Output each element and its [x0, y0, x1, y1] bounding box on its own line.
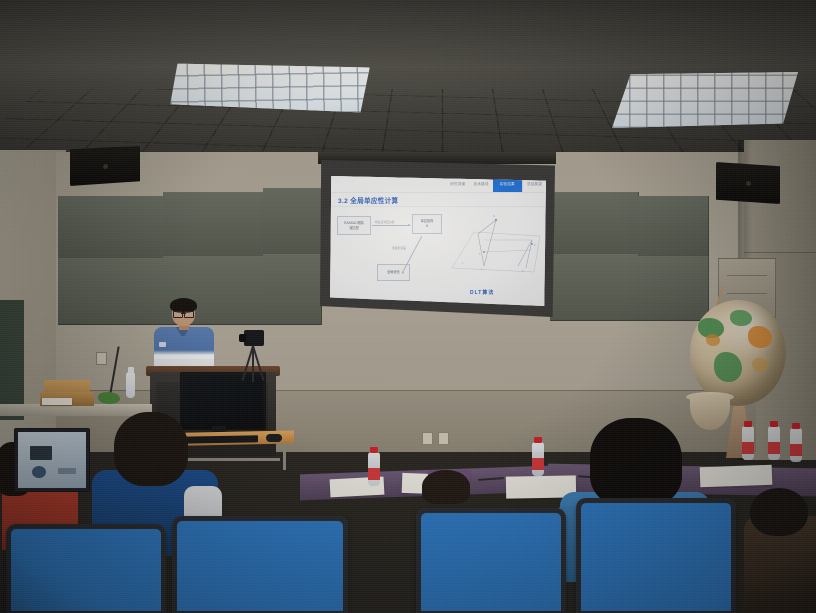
bottle-label: [368, 468, 380, 480]
auditorium-chair[interactable]: [172, 516, 348, 613]
world-globe[interactable]: [690, 300, 786, 406]
water-bottle[interactable]: [532, 442, 544, 476]
camera-tripod: [238, 330, 268, 382]
svg-text:C: C: [481, 268, 483, 271]
wall-panel: [58, 258, 164, 325]
svg-text:X: X: [493, 215, 495, 218]
flow-label-0: 特征点对应关系: [375, 220, 395, 224]
person-head: [114, 412, 188, 486]
slide-title-rule: [330, 206, 546, 207]
water-bottle[interactable]: [368, 452, 380, 486]
bottle-cap: [370, 447, 378, 453]
flow-box-homography: 单应矩阵 H: [412, 214, 442, 234]
glasses-icon: [173, 311, 194, 316]
video-camera: [244, 330, 264, 346]
wall-panel: [58, 196, 164, 259]
dlt-geometry-diagram: X x x' C C' π: [448, 210, 542, 286]
laptop-content-bar: [58, 468, 76, 474]
dlt-caption: DLT算法: [470, 289, 494, 296]
bottle-label: [532, 458, 544, 470]
light-louver-grid: [612, 72, 798, 128]
wall-panel: [638, 196, 709, 257]
bottle-cap: [770, 421, 778, 427]
water-bottle[interactable]: [768, 426, 780, 460]
continent-shape: [752, 358, 768, 372]
continent-shape: [748, 326, 772, 348]
continent-shape: [714, 352, 742, 382]
wall-panel: [163, 192, 264, 257]
laptop-content-chart: [32, 466, 46, 478]
auditorium-chair[interactable]: [6, 524, 166, 613]
flow-box-line2: H: [426, 224, 428, 229]
auditorium-chair[interactable]: [576, 498, 736, 613]
continent-shape: [730, 310, 752, 326]
wall-seam: [744, 252, 816, 253]
wall-outlet[interactable]: [438, 432, 449, 445]
wall-board: [0, 300, 24, 420]
tripod-leg: [252, 346, 264, 381]
mouse[interactable]: [266, 434, 282, 442]
person-head: [422, 470, 470, 504]
panel-seam: [727, 293, 767, 294]
box-label: [42, 398, 72, 405]
flow-label-1: 重投影误差: [392, 246, 406, 250]
svg-text:π: π: [462, 262, 464, 265]
wall-outlet[interactable]: [96, 352, 107, 365]
wall-speaker-left: [70, 146, 140, 186]
person-head: [750, 488, 808, 536]
presenter: [152, 300, 216, 375]
flow-arrow-2: [402, 236, 422, 273]
handout-paper[interactable]: [700, 465, 773, 488]
flow-box-line1: 全局优化: [387, 270, 400, 275]
presenter-shirt-logo: [159, 342, 166, 347]
green-object: [98, 392, 120, 404]
laptop-content-block: [30, 446, 52, 460]
flow-arrow-1: [372, 225, 410, 226]
bottle-label: [768, 442, 780, 454]
wall-panel: [550, 254, 639, 321]
presenter-shirt-stripe: [154, 355, 214, 359]
presentation-slide: 研究背景 技术路线 实验结果 总结展望 3.2 全局单应性计算 RANSAC剔除…: [330, 176, 546, 306]
audience-laptop[interactable]: [14, 428, 90, 492]
bottle-cap: [744, 421, 752, 427]
camera-lens: [239, 334, 246, 342]
panel-seam: [727, 275, 767, 276]
auditorium-chair[interactable]: [416, 508, 566, 613]
wall-panel: [550, 192, 639, 255]
lecture-hall-photo: 研究背景 技术路线 实验结果 总结展望 3.2 全局单应性计算 RANSAC剔除…: [0, 0, 816, 613]
wall-speaker-right: [716, 162, 780, 204]
bottle-cap: [128, 367, 134, 373]
person-head: [590, 418, 682, 506]
svg-text:x': x': [534, 244, 536, 247]
laptop-screen: [18, 432, 86, 488]
bottle-label: [742, 442, 754, 454]
flow-box-line2: 误匹配: [349, 226, 359, 231]
bottle-cap: [792, 423, 800, 429]
continent-shape: [706, 334, 720, 346]
water-bottle[interactable]: [790, 428, 802, 462]
speaker-cone: [746, 181, 751, 186]
water-bottle[interactable]: [126, 372, 135, 398]
slide-title: 3.2 全局单应性计算: [338, 195, 398, 205]
bottle-label: [790, 444, 802, 456]
bottle-cap: [534, 437, 542, 443]
wall-panel: [263, 188, 322, 255]
ceiling-troffer-light-right: [612, 72, 798, 128]
flow-box-ransac: RANSAC剔除 误匹配: [337, 216, 371, 235]
speaker-cone: [103, 164, 108, 169]
wall-panel: [263, 254, 322, 325]
wall-outlet[interactable]: [422, 432, 433, 445]
svg-text:x: x: [479, 253, 481, 256]
wall-panel: [638, 256, 709, 321]
projector-screen-surface[interactable]: 研究背景 技术路线 实验结果 总结展望 3.2 全局单应性计算 RANSAC剔除…: [330, 176, 546, 306]
water-bottle[interactable]: [742, 426, 754, 460]
audience-member-right-edge: [744, 498, 816, 613]
